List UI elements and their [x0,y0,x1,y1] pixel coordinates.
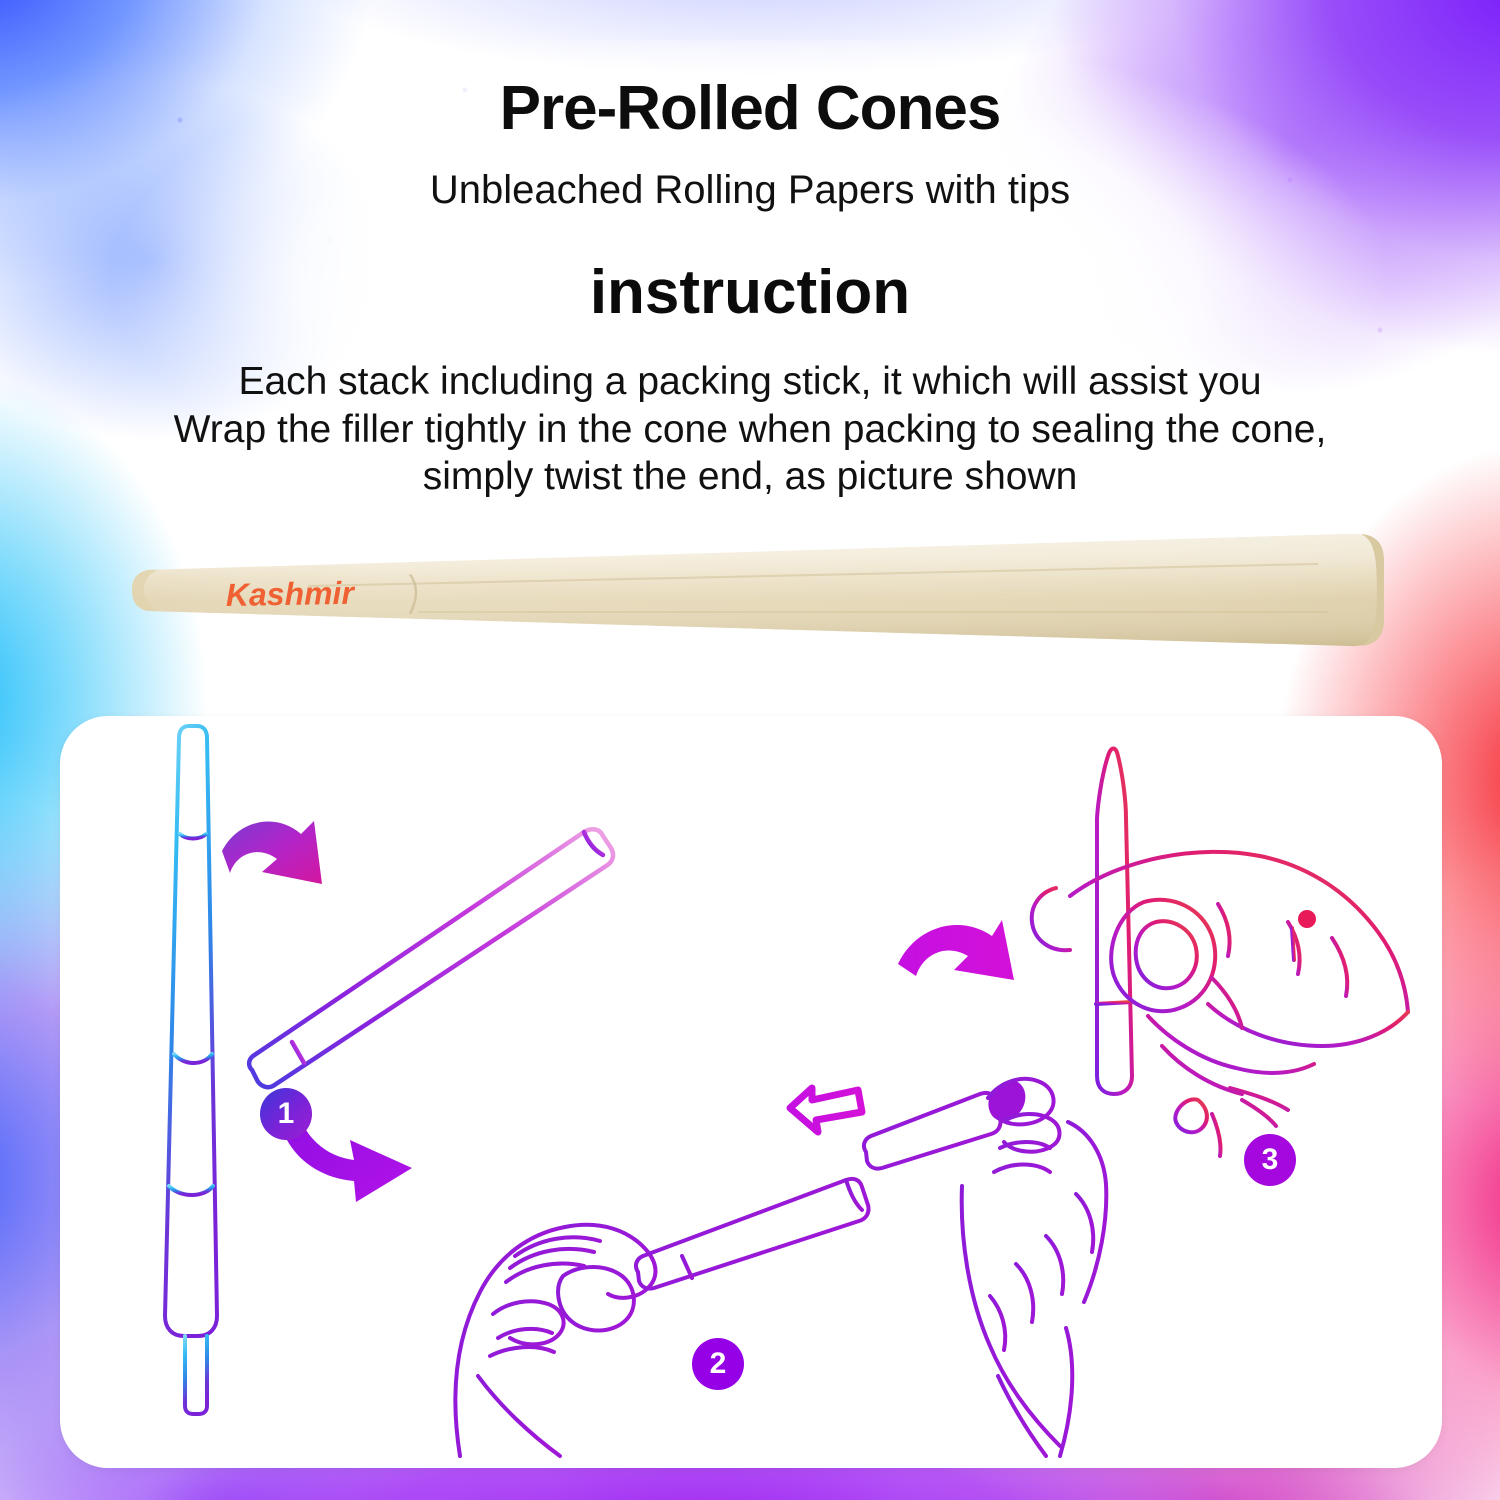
page-subtitle: Unbleached Rolling Papers with tips [0,170,1500,210]
hand-holding-sealed-cone-illustration [1032,749,1408,1157]
product-photo-wooden-cone: Kashmir [118,528,1393,653]
step-badge-3-number: 3 [1262,1145,1279,1175]
fingertip-dot [1298,910,1316,928]
arrow-curved-3 [898,920,1014,980]
instruction-line-2: Wrap the filler tightly in the cone when… [0,406,1500,454]
step-badge-2: 2 [692,1338,744,1390]
brand-logo-text: Kashmir [225,575,355,613]
hand-holding-cone-illustration [455,1179,868,1456]
step-badge-1-number: 1 [278,1099,295,1129]
page-title: Pre-Rolled Cones [0,78,1500,140]
hand-twisting-cone-illustration [864,1079,1106,1456]
header: Pre-Rolled Cones Unbleached Rolling Pape… [0,0,1500,501]
arrow-outline-left [790,1088,862,1132]
instruction-body: Each stack including a packing stick, it… [0,358,1500,501]
step-badge-3: 3 [1244,1134,1296,1186]
instruction-line-3: simply twist the end, as picture shown [0,453,1500,501]
instruction-diagram-card: 1 2 3 [60,716,1442,1468]
section-heading: instruction [0,262,1500,324]
step-badge-1: 1 [260,1088,312,1140]
cone-stack-illustration [165,726,217,1414]
step-badge-2-number: 2 [710,1349,727,1379]
arrow-curved-1 [222,821,322,884]
instruction-line-1: Each stack including a packing stick, it… [0,358,1500,406]
